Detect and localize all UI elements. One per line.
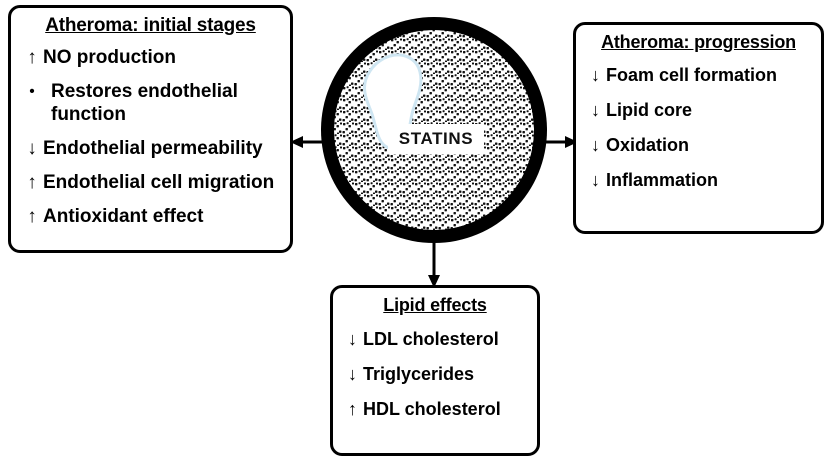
list-item-label: Endothelial permeability: [43, 137, 280, 160]
list-item: ↓ Endothelial permeability: [21, 137, 280, 160]
up-arrow-icon: ↑: [21, 171, 43, 194]
up-arrow-icon: ↑: [342, 398, 363, 420]
list-item: ↓ Inflammation: [585, 169, 812, 191]
down-arrow-icon: ↓: [342, 363, 363, 385]
down-arrow-icon: ↓: [585, 169, 606, 191]
list-item-label: Oxidation: [606, 134, 812, 156]
panel-atheroma-progression: Atheroma: progression ↓ Foam cell format…: [573, 22, 824, 234]
panel-lipid-effects: Lipid effects ↓ LDL cholesterol ↓ Trigly…: [330, 285, 540, 456]
list-item: • Restores endothelial function: [21, 80, 280, 126]
statins-label: STATINS: [399, 129, 473, 149]
down-arrow-icon: ↓: [342, 328, 363, 350]
panel-bottom-title: Lipid effects: [342, 295, 528, 316]
down-arrow-icon: ↓: [21, 137, 43, 160]
panel-bottom-item-list: ↓ LDL cholesterol ↓ Triglycerides ↑ HDL …: [342, 328, 528, 420]
list-item: ↓ Triglycerides: [342, 363, 528, 385]
list-item: ↓ Oxidation: [585, 134, 812, 156]
list-item: ↓ LDL cholesterol: [342, 328, 528, 350]
bullet-icon: •: [21, 80, 43, 103]
down-arrow-icon: ↓: [585, 64, 606, 86]
list-item: ↓ Lipid core: [585, 99, 812, 121]
panel-left-title: Atheroma: initial stages: [21, 15, 280, 37]
list-item-label: LDL cholesterol: [363, 328, 528, 350]
list-item: ↑ Antioxidant effect: [21, 205, 280, 228]
panel-left-item-list: ↑ NO production • Restores endothelial f…: [21, 46, 280, 228]
list-item-label: Foam cell formation: [606, 64, 812, 86]
up-arrow-icon: ↑: [21, 205, 43, 228]
list-item: ↑ HDL cholesterol: [342, 398, 528, 420]
list-item-label: Triglycerides: [363, 363, 528, 385]
list-item-label: Endothelial cell migration: [43, 171, 280, 194]
panel-right-title: Atheroma: progression: [585, 32, 812, 53]
list-item-label: NO production: [43, 46, 280, 69]
list-item-label: HDL cholesterol: [363, 398, 528, 420]
list-item: ↑ Endothelial cell migration: [21, 171, 280, 194]
statins-label-band: STATINS: [388, 124, 484, 154]
panel-atheroma-initial-stages: Atheroma: initial stages ↑ NO production…: [8, 5, 293, 253]
panel-right-item-list: ↓ Foam cell formation ↓ Lipid core ↓ Oxi…: [585, 64, 812, 191]
down-arrow-icon: ↓: [585, 134, 606, 156]
figure-canvas: Atheroma: initial stages ↑ NO production…: [0, 0, 829, 461]
up-arrow-icon: ↑: [21, 46, 43, 69]
down-arrow-icon: ↓: [585, 99, 606, 121]
list-item-label: Lipid core: [606, 99, 812, 121]
list-item-label: Restores endothelial function: [43, 80, 280, 126]
list-item: ↓ Foam cell formation: [585, 64, 812, 86]
list-item: ↑ NO production: [21, 46, 280, 69]
list-item-label: Inflammation: [606, 169, 812, 191]
list-item-label: Antioxidant effect: [43, 205, 280, 228]
